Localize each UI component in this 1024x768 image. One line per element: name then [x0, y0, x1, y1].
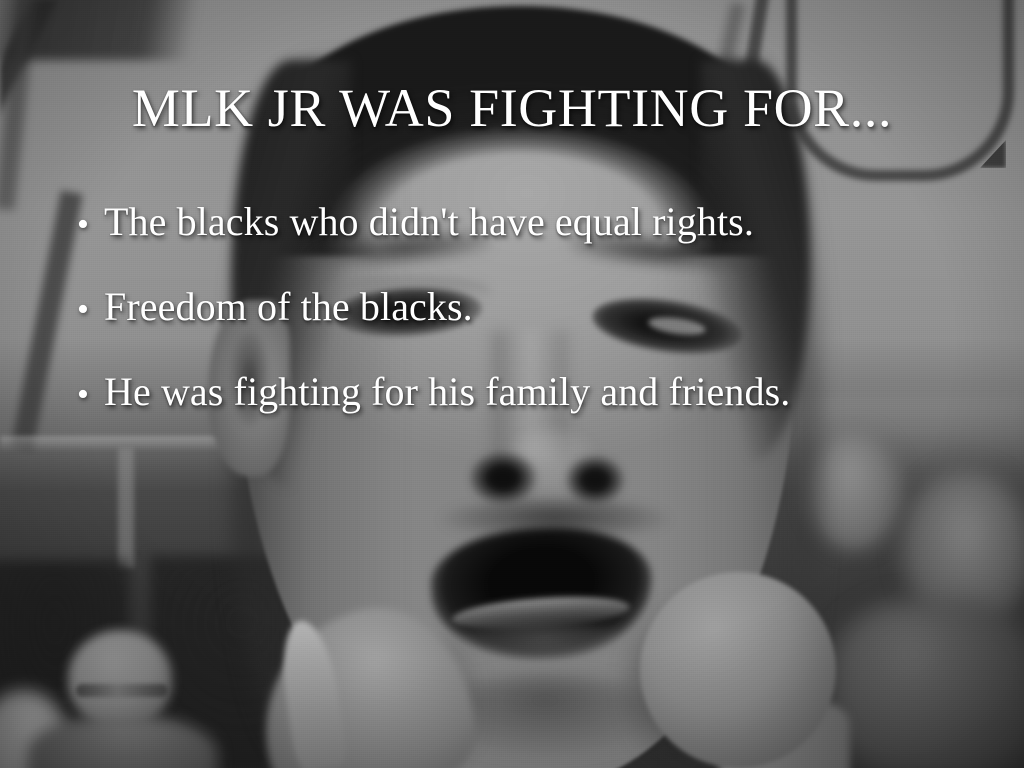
presentation-slide: MLK JR WAS FIGHTING FOR... • The blacks … [0, 0, 1024, 768]
bullet-item-1: • The blacks who didn't have equal right… [62, 200, 1022, 285]
slide-title: MLK JR WAS FIGHTING FOR... [0, 80, 1024, 137]
bullet-marker-icon: • [62, 293, 104, 327]
bullet-list: • The blacks who didn't have equal right… [62, 200, 1022, 455]
bullet-marker-icon: • [62, 378, 104, 412]
bullet-item-3: • He was fighting for his family and fri… [62, 370, 1022, 455]
bullet-text-2: Freedom of the blacks. [104, 285, 473, 329]
bullet-text-3: He was fighting for his family and frien… [104, 370, 790, 414]
bullet-item-2: • Freedom of the blacks. [62, 285, 1022, 370]
slide-content: MLK JR WAS FIGHTING FOR... • The blacks … [0, 0, 1024, 768]
bullet-marker-icon: • [62, 208, 104, 242]
bullet-text-1: The blacks who didn't have equal rights. [104, 200, 754, 244]
